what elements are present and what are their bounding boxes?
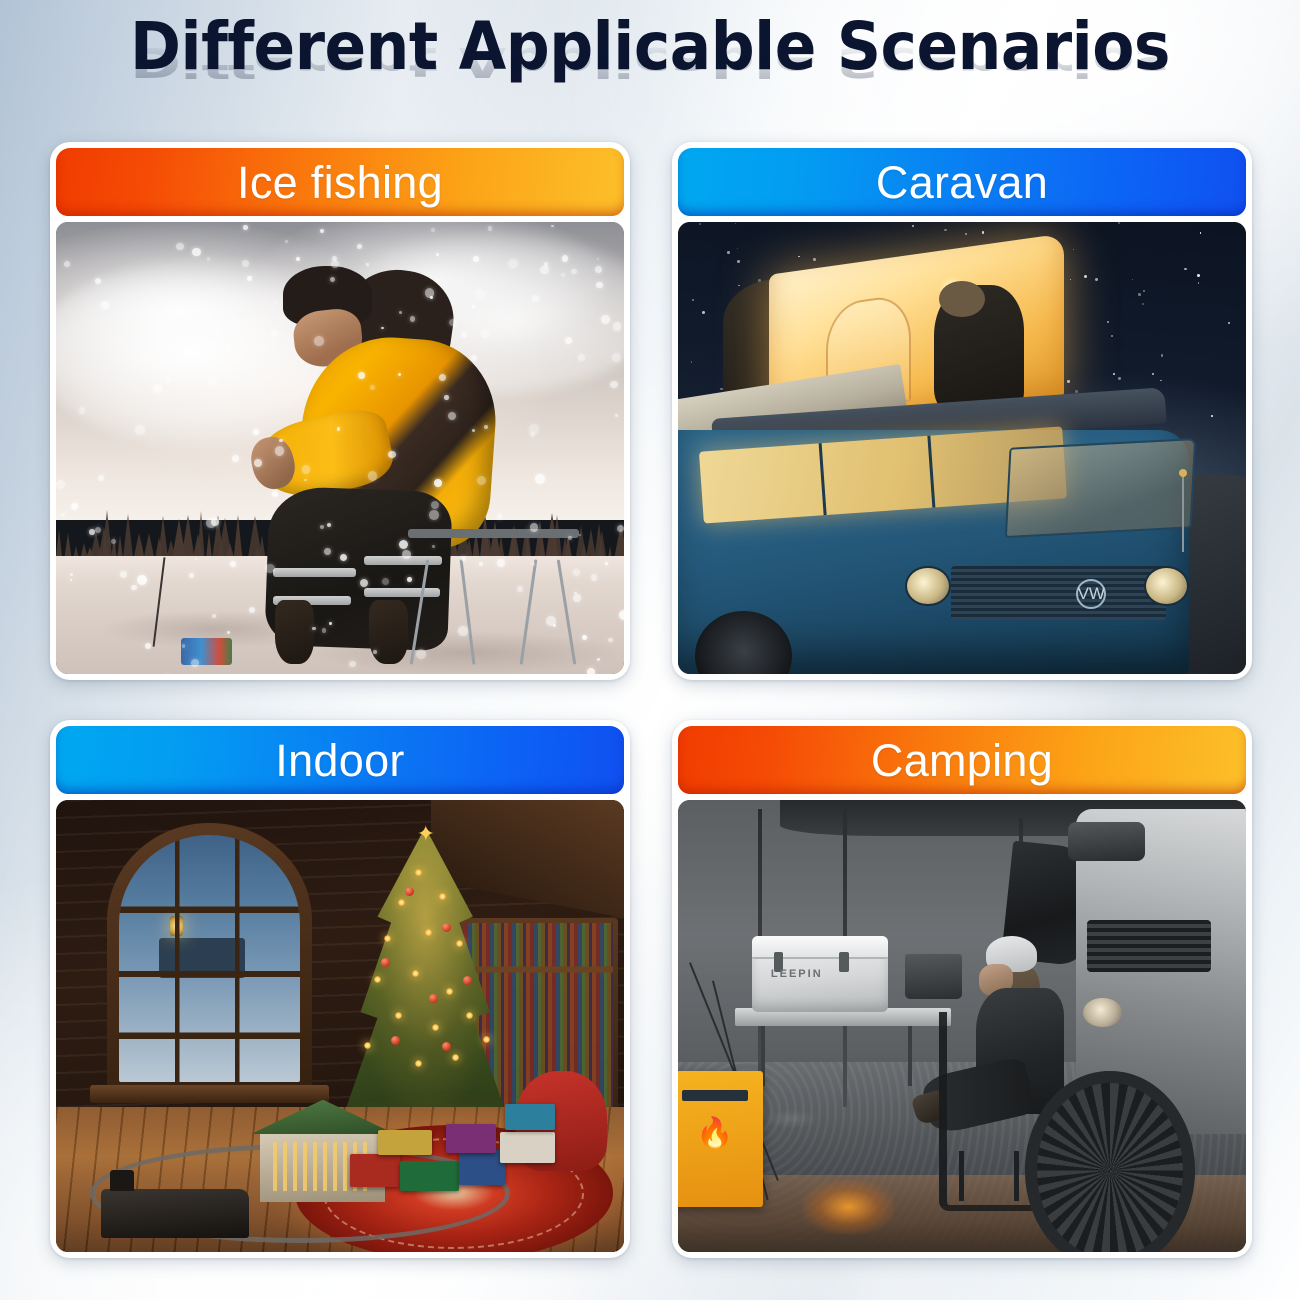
cooler-latch — [839, 952, 849, 972]
ice-fishing-scene — [56, 222, 624, 674]
chair-leg — [959, 1151, 964, 1201]
card-photo-camping: LEEPIN — [678, 800, 1246, 1252]
van-windshield — [1005, 438, 1197, 539]
cooler-lid — [752, 936, 888, 959]
snowy-house-outside — [159, 938, 246, 978]
toy-train — [101, 1189, 249, 1239]
window-glass — [119, 835, 299, 1082]
scenario-card-camping[interactable]: Camping LEEPIN — [672, 720, 1252, 1258]
window-sill — [90, 1085, 329, 1103]
card-title-ice-fishing: Ice fishing — [237, 160, 443, 205]
tackle-box — [181, 638, 232, 665]
card-title-caravan: Caravan — [876, 160, 1048, 205]
card-title-indoor: Indoor — [275, 738, 404, 783]
antenna — [1182, 475, 1184, 552]
caravan-scene: VW — [678, 222, 1246, 674]
stool-leg — [520, 560, 538, 665]
stool-leg — [460, 559, 476, 664]
vw-badge: VW — [1076, 579, 1106, 609]
headlight — [1144, 566, 1189, 607]
windscreen-bar — [682, 1090, 748, 1101]
truck-grille — [1087, 920, 1211, 972]
tree-foliage — [340, 827, 510, 1125]
arched-window — [107, 823, 311, 1094]
scenario-card-ice-fishing[interactable]: Ice fishing — [50, 142, 630, 680]
campfire-icon: 🔥 — [696, 1119, 733, 1149]
campfire-glow — [803, 1180, 894, 1234]
headlight — [905, 566, 950, 607]
card-header-caravan: Caravan — [678, 148, 1246, 216]
truck-mirror — [1068, 822, 1145, 861]
scenario-card-caravan[interactable]: Caravan VW — [672, 142, 1252, 680]
cooking-pot — [905, 954, 962, 999]
card-header-ice-fishing: Ice fishing — [56, 148, 624, 216]
van-grille — [951, 566, 1167, 620]
chair-leg — [1014, 1151, 1019, 1201]
winter-boot — [369, 600, 408, 664]
scenario-card-indoor[interactable]: Indoor ✦ — [50, 720, 630, 1258]
christmas-tree: ✦ — [340, 827, 510, 1125]
title-area: Different Applicable Scenarios Different… — [0, 0, 1300, 130]
page-title: Different Applicable Scenarios — [46, 8, 1255, 86]
card-header-indoor: Indoor — [56, 726, 624, 794]
indoor-scene: ✦ — [56, 800, 624, 1252]
gift-pile — [346, 1094, 573, 1193]
cooler-brand-label: LEEPIN — [771, 968, 823, 980]
fire-windscreen: 🔥 — [678, 1071, 763, 1207]
card-header-camping: Camping — [678, 726, 1246, 794]
card-title-camping: Camping — [871, 738, 1053, 783]
person-head — [939, 281, 984, 317]
folding-stool — [408, 529, 578, 665]
off-road-tire — [1025, 1071, 1195, 1252]
cooler-box: LEEPIN — [752, 936, 888, 1013]
stool-seat — [408, 529, 578, 538]
tree-star-icon: ✦ — [417, 821, 435, 847]
card-photo-indoor: ✦ — [56, 800, 624, 1252]
truck-headlight — [1083, 998, 1122, 1027]
card-photo-caravan: VW — [678, 222, 1246, 674]
street-lamp — [170, 916, 183, 936]
card-photo-ice-fishing — [56, 222, 624, 674]
camping-scene: LEEPIN — [678, 800, 1246, 1252]
winter-boot — [275, 600, 314, 664]
reflective-stripe — [273, 568, 357, 577]
stool-leg — [410, 560, 430, 665]
scenario-card-grid: Ice fishing — [50, 142, 1252, 1258]
stool-leg — [557, 560, 577, 665]
